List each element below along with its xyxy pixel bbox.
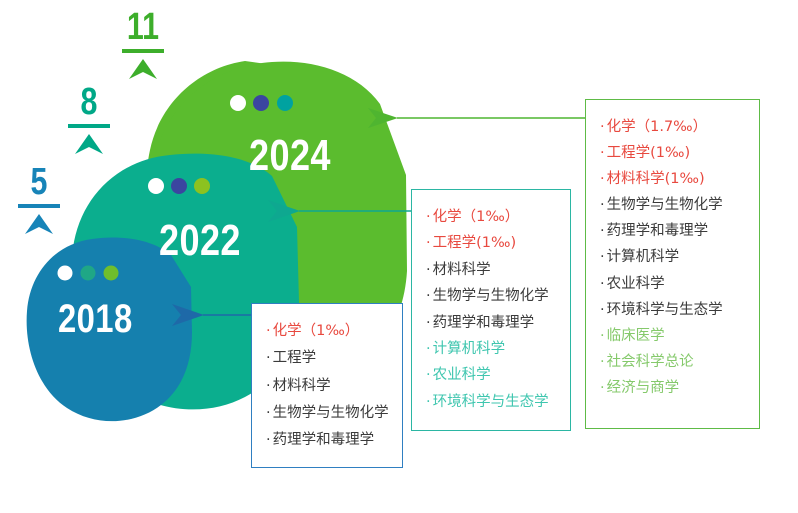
- bullet-icon: ·: [600, 271, 605, 297]
- connector-2024: [368, 108, 585, 128]
- discipline-label: 生物学与生物化学: [433, 288, 549, 304]
- discipline-label: 农业科学: [607, 276, 665, 292]
- discipline-item: ·农业科学: [426, 362, 556, 388]
- discipline-label: 工程学(1‰): [607, 145, 691, 161]
- bullet-icon: ·: [600, 140, 605, 166]
- discipline-item: ·环境科学与生态学: [426, 389, 556, 415]
- count-value-11: 11: [122, 8, 164, 46]
- discipline-label: 材料科学: [433, 262, 491, 278]
- bullet-icon: ·: [600, 218, 605, 244]
- blob-dot-2024-1: [230, 95, 246, 111]
- discipline-item: ·社会科学总论: [600, 349, 745, 375]
- discipline-label: 化学（1‰）: [433, 209, 520, 225]
- blob-dot-2024-3: [277, 95, 293, 111]
- year-label-2018: 2018: [58, 297, 133, 342]
- discipline-item: ·药理学和毒理学: [600, 218, 745, 244]
- connector-2022: [268, 200, 411, 222]
- discipline-box-2022: ·化学（1‰）·工程学(1‰)·材料科学·生物学与生物化学·药理学和毒理学·计算…: [411, 189, 571, 431]
- year-label-2022: 2022: [159, 216, 241, 266]
- blob-dot-2022-3: [194, 178, 210, 194]
- discipline-label: 经济与商学: [607, 380, 680, 396]
- blob-dot-2024-2: [253, 95, 269, 111]
- discipline-label: 临床医学: [607, 328, 665, 344]
- discipline-item: ·工程学(1‰): [426, 230, 556, 256]
- discipline-item: ·材料科学: [266, 373, 388, 400]
- discipline-item: ·药理学和毒理学: [426, 310, 556, 336]
- discipline-list-2018: ·化学（1‰）·工程学·材料科学·生物学与生物化学·药理学和毒理学: [266, 318, 388, 454]
- discipline-label: 化学（1.7‰）: [607, 119, 708, 135]
- discipline-item: ·药理学和毒理学: [266, 427, 388, 454]
- bullet-icon: ·: [426, 310, 431, 336]
- discipline-box-2024: ·化学（1.7‰）·工程学(1‰)·材料科学(1‰)·生物学与生物化学·药理学和…: [585, 99, 760, 429]
- bullet-icon: ·: [266, 345, 271, 372]
- count-marker-11: 11: [117, 8, 169, 81]
- discipline-label: 社会科学总论: [607, 354, 694, 370]
- discipline-item: ·经济与商学: [600, 375, 745, 401]
- discipline-item: ·临床医学: [600, 323, 745, 349]
- up-arrow-icon: [13, 212, 65, 236]
- discipline-label: 工程学(1‰): [433, 235, 517, 251]
- bullet-icon: ·: [426, 204, 431, 230]
- blob-dot-2022-1: [148, 178, 164, 194]
- count-rule-8: [68, 124, 110, 128]
- blob-dot-2018-1: [58, 266, 73, 281]
- bullet-icon: ·: [600, 192, 605, 218]
- discipline-item: ·计算机科学: [600, 244, 745, 270]
- bullet-icon: ·: [266, 400, 271, 427]
- discipline-label: 生物学与生物化学: [273, 405, 389, 421]
- discipline-item: ·化学（1‰）: [266, 318, 388, 345]
- bullet-icon: ·: [600, 323, 605, 349]
- bullet-icon: ·: [600, 375, 605, 401]
- discipline-item: ·生物学与生物化学: [426, 283, 556, 309]
- count-marker-8: 8: [63, 83, 115, 156]
- discipline-label: 计算机科学: [433, 341, 506, 357]
- bullet-icon: ·: [600, 297, 605, 323]
- discipline-label: 农业科学: [433, 367, 491, 383]
- discipline-label: 生物学与生物化学: [607, 197, 723, 213]
- discipline-item: ·生物学与生物化学: [266, 400, 388, 427]
- discipline-label: 材料科学: [273, 378, 331, 394]
- discipline-box-2018: ·化学（1‰）·工程学·材料科学·生物学与生物化学·药理学和毒理学: [251, 303, 403, 468]
- bullet-icon: ·: [600, 244, 605, 270]
- year-label-2024: 2024: [249, 131, 331, 181]
- bullet-icon: ·: [426, 362, 431, 388]
- discipline-label: 化学（1‰）: [273, 323, 360, 339]
- blob-dot-2018-3: [104, 266, 119, 281]
- bullet-icon: ·: [600, 166, 605, 192]
- discipline-item: ·生物学与生物化学: [600, 192, 745, 218]
- discipline-label: 环境科学与生态学: [433, 394, 549, 410]
- discipline-label: 材料科学(1‰): [607, 171, 705, 187]
- discipline-item: ·材料科学: [426, 257, 556, 283]
- up-arrow-icon: [117, 57, 169, 81]
- count-value-5: 5: [18, 163, 60, 201]
- bullet-icon: ·: [426, 283, 431, 309]
- up-arrow-icon: [63, 132, 115, 156]
- discipline-label: 药理学和毒理学: [273, 432, 375, 448]
- discipline-item: ·计算机科学: [426, 336, 556, 362]
- count-value-8: 8: [68, 83, 110, 121]
- discipline-label: 环境科学与生态学: [607, 302, 723, 318]
- count-rule-5: [18, 204, 60, 208]
- discipline-item: ·环境科学与生态学: [600, 297, 745, 323]
- discipline-label: 工程学: [273, 350, 317, 366]
- discipline-item: ·材料科学(1‰): [600, 166, 745, 192]
- bullet-icon: ·: [426, 336, 431, 362]
- discipline-list-2024: ·化学（1.7‰）·工程学(1‰)·材料科学(1‰)·生物学与生物化学·药理学和…: [600, 114, 745, 401]
- discipline-item: ·工程学(1‰): [600, 140, 745, 166]
- discipline-item: ·农业科学: [600, 271, 745, 297]
- discipline-label: 药理学和毒理学: [607, 223, 709, 239]
- discipline-label: 药理学和毒理学: [433, 315, 535, 331]
- discipline-label: 计算机科学: [607, 249, 680, 265]
- bullet-icon: ·: [600, 349, 605, 375]
- count-marker-5: 5: [13, 163, 65, 236]
- blob-dot-2018-2: [81, 266, 96, 281]
- bullet-icon: ·: [600, 114, 605, 140]
- infographic-canvas: 2024 2022 2018 11 8 5 ·化学（1‰）·工程学·材料科学·生…: [0, 0, 798, 513]
- bullet-icon: ·: [266, 427, 271, 454]
- discipline-list-2022: ·化学（1‰）·工程学(1‰)·材料科学·生物学与生物化学·药理学和毒理学·计算…: [426, 204, 556, 415]
- bullet-icon: ·: [426, 230, 431, 256]
- connector-2018: [172, 304, 251, 326]
- bullet-icon: ·: [266, 318, 271, 345]
- bullet-icon: ·: [266, 373, 271, 400]
- discipline-item: ·化学（1‰）: [426, 204, 556, 230]
- discipline-item: ·化学（1.7‰）: [600, 114, 745, 140]
- bullet-icon: ·: [426, 389, 431, 415]
- blob-dot-2022-2: [171, 178, 187, 194]
- discipline-item: ·工程学: [266, 345, 388, 372]
- count-rule-11: [122, 49, 164, 53]
- bullet-icon: ·: [426, 257, 431, 283]
